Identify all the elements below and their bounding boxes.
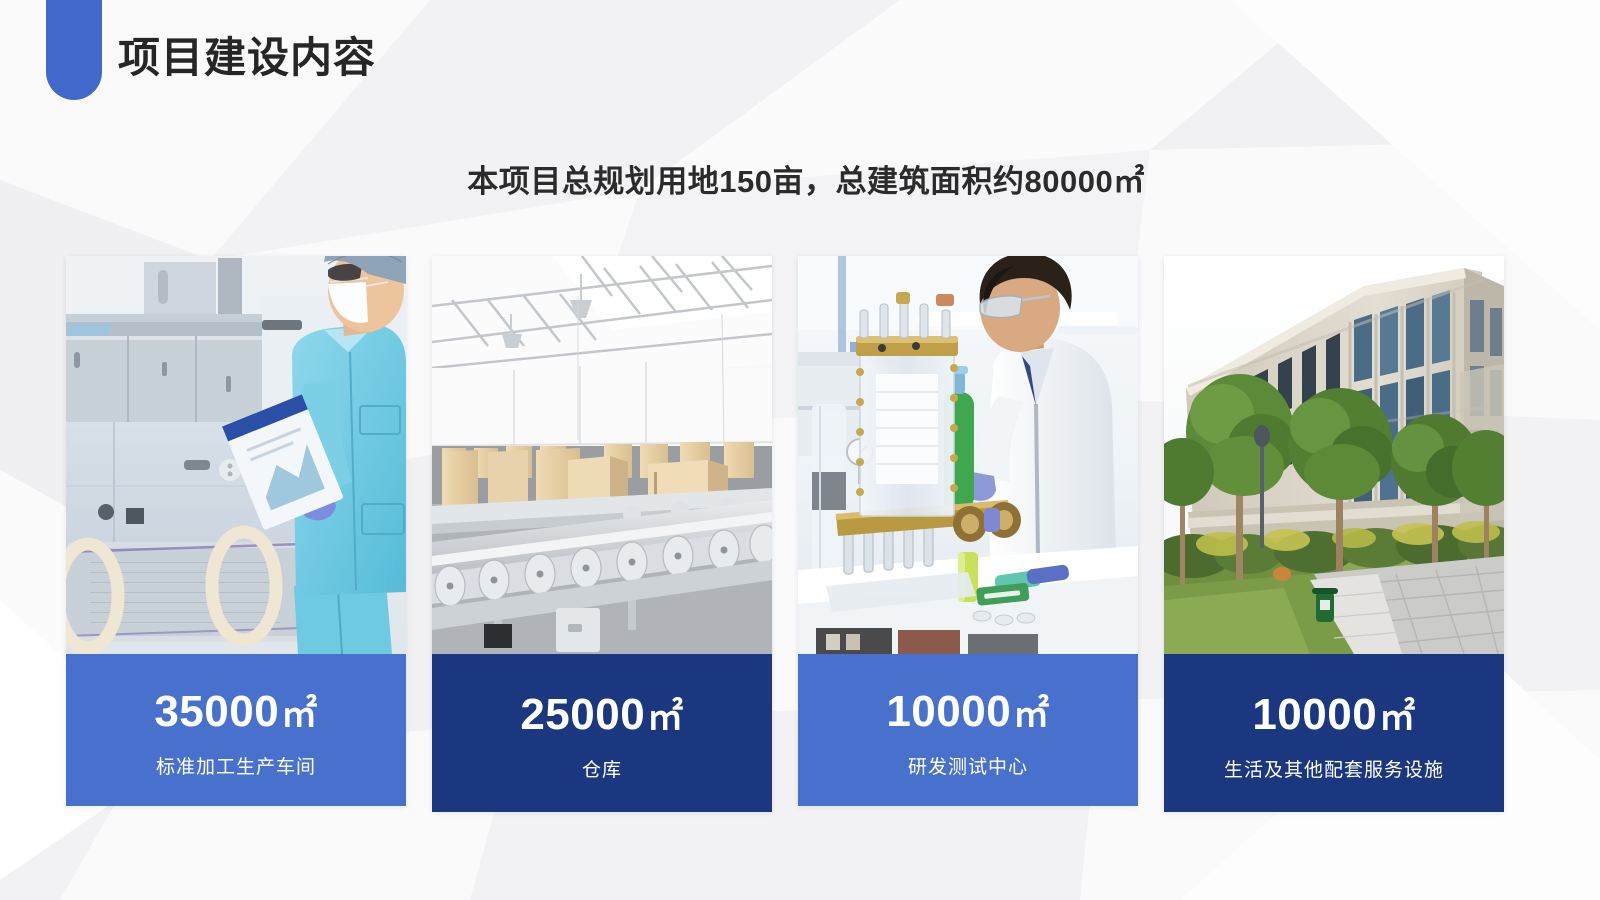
card-label: 35000㎡ 标准加工生产车间 (66, 654, 406, 806)
card-area-value: 10000㎡ (1252, 693, 1415, 737)
title-accent-bar (46, 0, 102, 100)
card-label: 10000㎡ 研发测试中心 (798, 654, 1138, 806)
campus-building-photo (1164, 256, 1504, 654)
card-area-value: 10000㎡ (886, 690, 1049, 734)
card-description: 研发测试中心 (908, 756, 1028, 781)
card-label: 10000㎡ 生活及其他配套服务设施 (1164, 654, 1504, 812)
warehouse-conveyor-photo (432, 256, 772, 654)
page-title: 项目建设内容 (118, 33, 376, 83)
card-area-number: 35000 (154, 687, 279, 736)
facility-card[interactable]: 25000㎡ 仓库 (432, 256, 772, 812)
facility-card[interactable]: 10000㎡ 生活及其他配套服务设施 (1164, 256, 1504, 812)
slide-header: 项目建设内容 (0, 0, 1600, 140)
card-area-unit: ㎡ (647, 696, 684, 737)
card-description: 标准加工生产车间 (156, 756, 316, 781)
facility-card-row: 35000㎡ 标准加工生产车间 (66, 256, 1506, 812)
laboratory-researcher-photo (798, 256, 1138, 654)
card-description: 仓库 (582, 759, 622, 784)
facility-card[interactable]: 35000㎡ 标准加工生产车间 (66, 256, 406, 806)
card-area-unit: ㎡ (1013, 693, 1050, 734)
card-area-value: 25000㎡ (520, 693, 683, 737)
slide-root: 项目建设内容 本项目总规划用地150亩，总建筑面积约80000㎡ (0, 0, 1600, 900)
card-area-number: 10000 (1252, 690, 1377, 739)
card-description: 生活及其他配套服务设施 (1224, 759, 1444, 784)
card-label: 25000㎡ 仓库 (432, 654, 772, 812)
card-area-number: 25000 (520, 690, 645, 739)
card-area-unit: ㎡ (1379, 696, 1416, 737)
card-area-number: 10000 (886, 687, 1011, 736)
card-area-value: 35000㎡ (154, 690, 317, 734)
facility-card[interactable]: 10000㎡ 研发测试中心 (798, 256, 1138, 806)
cleanroom-worker-photo (66, 256, 406, 654)
card-area-unit: ㎡ (281, 693, 318, 734)
subtitle-text: 本项目总规划用地150亩，总建筑面积约80000㎡ (0, 156, 1600, 201)
